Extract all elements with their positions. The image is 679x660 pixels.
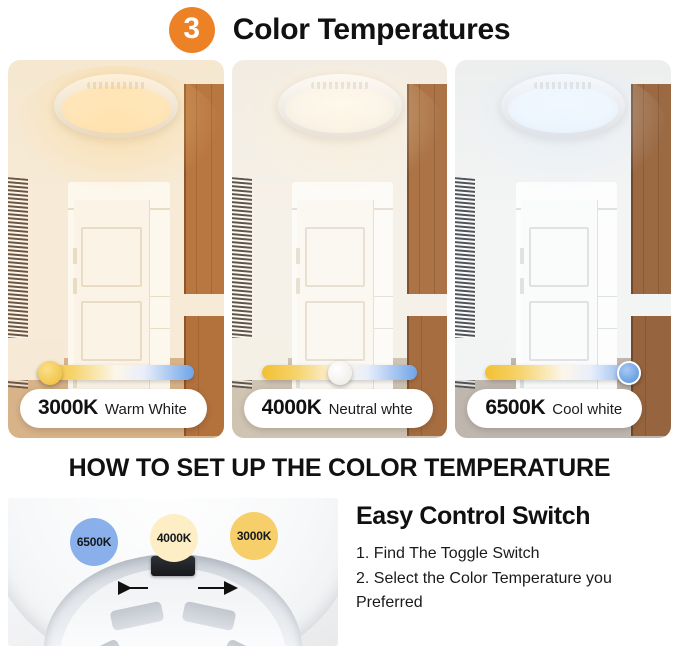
door-hinge: [520, 278, 524, 294]
page-header: 3 Color Temperatures: [0, 0, 679, 60]
instructions-block: Easy Control Switch 1. Find The Toggle S…: [356, 498, 671, 648]
side-panel-seam: [597, 328, 617, 329]
ceiling-light-fixture: [501, 74, 625, 138]
temperature-slider[interactable]: [262, 365, 418, 380]
lamp-diffuser: [285, 86, 395, 133]
door-panel-top: [81, 227, 141, 287]
temperature-dot-6500k: 6500K: [70, 518, 118, 566]
lamp-printed-label: [311, 82, 369, 89]
cabinet-upper: [184, 84, 224, 294]
instructions-title: Easy Control Switch: [356, 502, 671, 531]
lamp-diffuser: [61, 86, 171, 133]
slider-knob[interactable]: [328, 361, 352, 385]
door-hinge: [73, 278, 77, 294]
door-panel-top: [529, 227, 589, 287]
page-title: Color Temperatures: [233, 13, 510, 47]
color-temperature-panel-4000k: 4000K Neutral whte: [232, 60, 448, 438]
caption-name: Neutral whte: [329, 401, 413, 418]
temperature-slider[interactable]: [485, 365, 641, 380]
cabinet-seam: [434, 84, 435, 294]
door-hinge: [296, 248, 300, 264]
cabinet-seam: [645, 316, 646, 436]
slider-knob[interactable]: [617, 361, 641, 385]
caption-kelvin: 6500K: [485, 396, 545, 420]
door-panel-top: [305, 227, 365, 287]
instruction-step: 1. Find The Toggle Switch: [356, 543, 671, 566]
caption-kelvin: 3000K: [38, 396, 98, 420]
instruction-step: Preferred: [356, 592, 671, 615]
door-hinge: [520, 248, 524, 264]
door-hinge: [73, 248, 77, 264]
instruction-step: 2. Select the Color Temperature you: [356, 568, 671, 591]
ceiling-light-fixture: [278, 74, 402, 138]
cabinet-seam: [419, 84, 420, 294]
room-scene: [8, 60, 224, 438]
cabinet-seam: [658, 84, 659, 294]
cabinet-upper: [407, 84, 447, 294]
door-hinge: [296, 278, 300, 294]
fixture-switch-photo: 6500K 4000K 3000K: [8, 498, 338, 646]
panel-caption: 4000K Neutral whte: [244, 389, 433, 428]
cabinet-seam: [196, 84, 197, 294]
cabinet-upper: [631, 84, 671, 294]
side-panel-seam: [373, 328, 393, 329]
caption-kelvin: 4000K: [262, 396, 322, 420]
ceiling-light-fixture: [54, 74, 178, 138]
step-number-badge: 3: [169, 7, 215, 53]
color-temperature-panels: 3000K Warm White: [0, 60, 679, 438]
temperature-slider[interactable]: [38, 365, 194, 380]
lamp-printed-label: [87, 82, 145, 89]
panel-caption: 3000K Warm White: [20, 389, 207, 428]
door-panel-bottom: [305, 301, 365, 361]
caption-name: Warm White: [105, 401, 187, 418]
caption-name: Cool white: [552, 401, 622, 418]
slider-knob[interactable]: [38, 361, 62, 385]
setup-instructions-row: 6500K 4000K 3000K Easy Control Switch 1.…: [0, 498, 679, 648]
side-panel-seam: [149, 328, 169, 329]
section-heading: HOW TO SET UP THE COLOR TEMPERATURE: [0, 438, 679, 498]
door-panel-bottom: [81, 301, 141, 361]
temperature-dot-label: 3000K: [237, 529, 271, 543]
temperature-dot-label: 4000K: [157, 531, 191, 545]
side-panel-seam: [597, 296, 617, 297]
color-temperature-panel-3000k: 3000K Warm White: [8, 60, 224, 438]
temperature-dot-label: 6500K: [77, 535, 111, 549]
door-panel-bottom: [529, 301, 589, 361]
lamp-printed-label: [534, 82, 592, 89]
color-temperature-panel-6500k: 6500K Cool white: [455, 60, 671, 438]
side-panel-seam: [149, 296, 169, 297]
temperature-dot-3000k: 3000K: [230, 512, 278, 560]
panel-caption: 6500K Cool white: [467, 389, 642, 428]
cabinet-seam: [643, 84, 644, 294]
side-panel-seam: [373, 296, 393, 297]
lamp-diffuser: [508, 86, 618, 133]
temperature-dot-4000k: 4000K: [150, 514, 198, 562]
room-scene: [455, 60, 671, 438]
cabinet-seam: [211, 84, 212, 294]
